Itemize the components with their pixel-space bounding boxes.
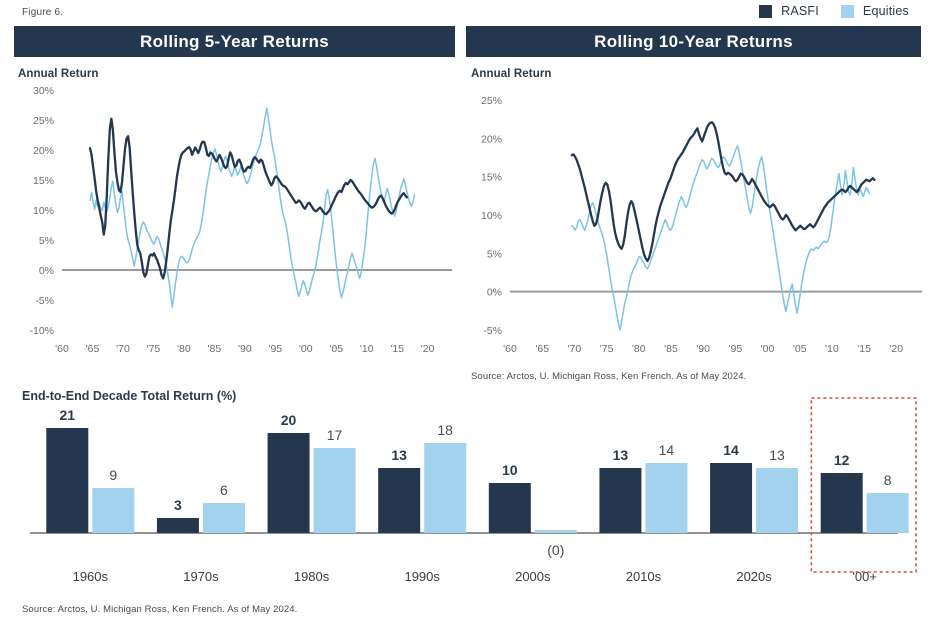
bar-equities (756, 468, 798, 533)
y-axis-tick-label: 15% (481, 172, 502, 184)
bar-category-label: 1980s (294, 569, 330, 584)
bar-equities (645, 463, 687, 533)
x-axis-tick-label: '20 (421, 343, 435, 355)
x-axis-tick-label: '00 (761, 343, 775, 355)
source-note-bottom: Source: Arctos, U. Michigan Ross, Ken Fr… (22, 604, 297, 615)
bar-rasfi (489, 483, 531, 533)
bar-value-label: 14 (659, 442, 675, 458)
y-axis-tick-label: 5% (39, 235, 54, 247)
bar-value-label: 18 (437, 422, 453, 438)
bar-value-label: 9 (109, 467, 117, 483)
y-axis-tick-label: 0% (487, 287, 502, 299)
y-axis-tick-label: -10% (29, 325, 54, 337)
y-axis-tick-label: 15% (33, 175, 54, 187)
bar-value-label: 8 (884, 472, 892, 488)
x-axis-tick-label: '05 (793, 343, 807, 355)
line-series-rasfi (90, 119, 407, 279)
y-axis-tick-label: 25% (33, 115, 54, 127)
line-chart-rolling-10-year: 25%20%15%10%5%0%-5%'60'65'70'75'80'85'90… (452, 80, 935, 355)
line-series-equities (90, 108, 414, 307)
x-axis-tick-label: '95 (728, 343, 742, 355)
x-axis-tick-label: '85 (208, 343, 222, 355)
x-axis-tick-label: '10 (825, 343, 839, 355)
axis-caption-right: Annual Return (471, 68, 552, 80)
y-axis-tick-label: 20% (481, 133, 502, 145)
bar-value-label: 17 (327, 427, 343, 443)
axis-caption-left: Annual Return (18, 68, 99, 80)
x-axis-tick-label: '15 (390, 343, 404, 355)
x-axis-tick-label: '65 (86, 343, 100, 355)
bar-rasfi (599, 468, 641, 533)
x-axis-tick-label: '60 (503, 343, 517, 355)
legend-item-equities: Equities (841, 4, 909, 18)
bar-value-label: 13 (769, 447, 785, 463)
bar-category-label: 2010s (626, 569, 662, 584)
bar-value-label: 6 (220, 482, 228, 498)
x-axis-tick-label: '20 (889, 343, 903, 355)
legend-label-equities: Equities (863, 4, 909, 18)
x-axis-tick-label: '80 (177, 343, 191, 355)
x-axis-tick-label: '95 (268, 343, 282, 355)
bar-equities (535, 530, 577, 533)
bar-value-label: 13 (391, 447, 407, 463)
bar-rasfi (46, 428, 88, 533)
y-axis-tick-label: 10% (33, 205, 54, 217)
y-axis-tick-label: 5% (487, 248, 502, 260)
y-axis-tick-label: 30% (33, 85, 54, 97)
bar-value-label: 21 (60, 407, 76, 423)
x-axis-tick-label: '90 (238, 343, 252, 355)
bar-category-label: 2000s (515, 569, 551, 584)
bar-value-label: 20 (281, 412, 297, 428)
bar-equities (314, 448, 356, 533)
bar-value-label: (0) (547, 542, 564, 558)
figure-label: Figure 6. (22, 7, 63, 18)
bar-rasfi (378, 468, 420, 533)
x-axis-tick-label: '80 (632, 343, 646, 355)
bar-category-label: 1990s (404, 569, 440, 584)
y-axis-tick-label: 20% (33, 145, 54, 157)
x-axis-tick-label: '75 (600, 343, 614, 355)
bar-chart-decade-returns: 2191960s361970s20171980s13181990s10(0)20… (0, 386, 935, 596)
x-axis-tick-label: '65 (535, 343, 549, 355)
bar-rasfi (821, 473, 863, 533)
x-axis-tick-label: '90 (696, 343, 710, 355)
x-axis-tick-label: '10 (360, 343, 374, 355)
panel-title-rolling-5-year: Rolling 5-Year Returns (14, 26, 455, 57)
y-axis-tick-label: -5% (35, 295, 54, 307)
line-series-rasfi (572, 122, 875, 261)
legend-label-rasfi: RASFI (781, 4, 819, 18)
bar-equities (203, 503, 245, 533)
bar-rasfi (710, 463, 752, 533)
legend-swatch-rasfi (759, 5, 772, 18)
source-note-right: Source: Arctos, U. Michigan Ross, Ken Fr… (471, 371, 746, 382)
legend-item-rasfi: RASFI (759, 4, 819, 18)
bar-equities (92, 488, 134, 533)
y-axis-tick-label: 0% (39, 265, 54, 277)
chart-legend: RASFI Equities (759, 4, 909, 18)
y-axis-tick-label: 25% (481, 95, 502, 107)
bar-category-label: 1960s (73, 569, 109, 584)
x-axis-tick-label: '05 (329, 343, 343, 355)
bar-value-label: 10 (502, 462, 518, 478)
bar-equities (424, 443, 466, 533)
x-axis-tick-label: '60 (55, 343, 69, 355)
y-axis-tick-label: 10% (481, 210, 502, 222)
bar-value-label: 3 (174, 497, 182, 513)
line-chart-rolling-5-year: 30%25%20%15%10%5%0%-5%-10%'60'65'70'75'8… (0, 80, 460, 355)
x-axis-tick-label: '70 (568, 343, 582, 355)
legend-swatch-equities (841, 5, 854, 18)
panel-title-rolling-10-year: Rolling 10-Year Returns (466, 26, 921, 57)
bar-value-label: 12 (834, 452, 850, 468)
x-axis-tick-label: '00 (299, 343, 313, 355)
bar-category-label: 2020s (736, 569, 772, 584)
bar-rasfi (268, 433, 310, 533)
x-axis-tick-label: '85 (664, 343, 678, 355)
bar-category-label: 1970s (183, 569, 219, 584)
bar-value-label: 13 (613, 447, 629, 463)
y-axis-tick-label: -5% (483, 325, 502, 337)
x-axis-tick-label: '70 (116, 343, 130, 355)
bar-equities (867, 493, 909, 533)
x-axis-tick-label: '75 (147, 343, 161, 355)
bar-rasfi (157, 518, 199, 533)
bar-value-label: 14 (723, 442, 739, 458)
x-axis-tick-label: '15 (857, 343, 871, 355)
